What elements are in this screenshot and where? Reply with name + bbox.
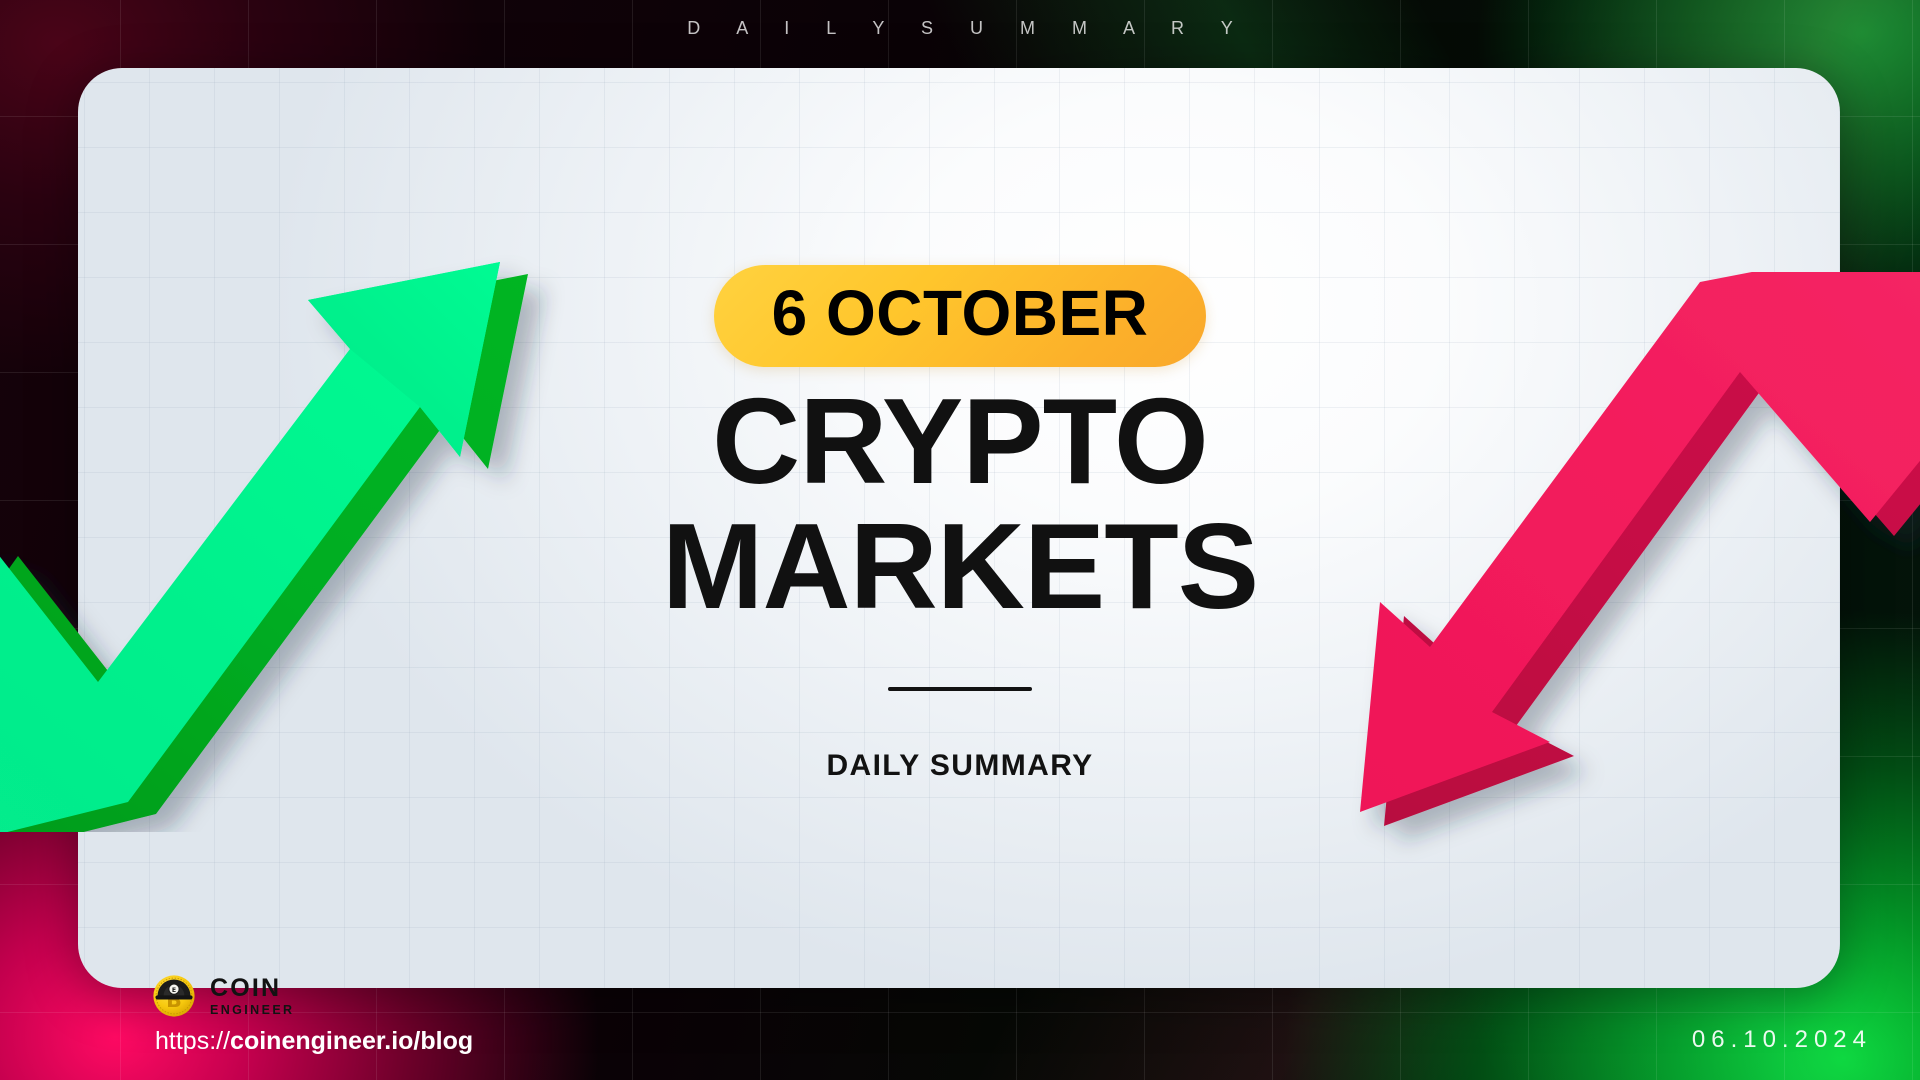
page-title-line-1: CRYPTO xyxy=(510,383,1410,500)
footer-url-host: coinengineer.io/blog xyxy=(230,1027,473,1055)
brand-logo-text: COIN ENGINEER xyxy=(210,976,295,1017)
poster-canvas: D A I L Y S U M M A R Y xyxy=(0,0,1920,1080)
page-title-line-2: MARKETS xyxy=(510,508,1410,625)
green-up-trend-arrow xyxy=(0,112,580,832)
brand-name-primary: COIN xyxy=(210,976,295,1001)
footer-url-protocol: https:// xyxy=(155,1027,230,1055)
subtitle: DAILY SUMMARY xyxy=(510,749,1410,783)
coin-helmet-bitcoin-icon: B E xyxy=(152,974,196,1018)
header-eyebrow: D A I L Y S U M M A R Y xyxy=(0,18,1920,39)
date-badge[interactable]: 6 OCTOBER xyxy=(714,265,1207,367)
footer-date: 06.10.2024 xyxy=(1692,1026,1872,1054)
footer-url[interactable]: https://coinengineer.io/blog xyxy=(155,1027,473,1056)
card-content: 6 OCTOBER CRYPTO MARKETS DAILY SUMMARY xyxy=(510,265,1410,783)
page-title: CRYPTO MARKETS xyxy=(510,383,1410,625)
title-divider xyxy=(888,687,1032,691)
svg-text:E: E xyxy=(172,987,176,994)
brand-name-secondary: ENGINEER xyxy=(210,1004,295,1017)
date-badge-label: 6 OCTOBER xyxy=(772,281,1149,345)
brand-logo[interactable]: B E COIN ENGINEER xyxy=(152,974,295,1018)
